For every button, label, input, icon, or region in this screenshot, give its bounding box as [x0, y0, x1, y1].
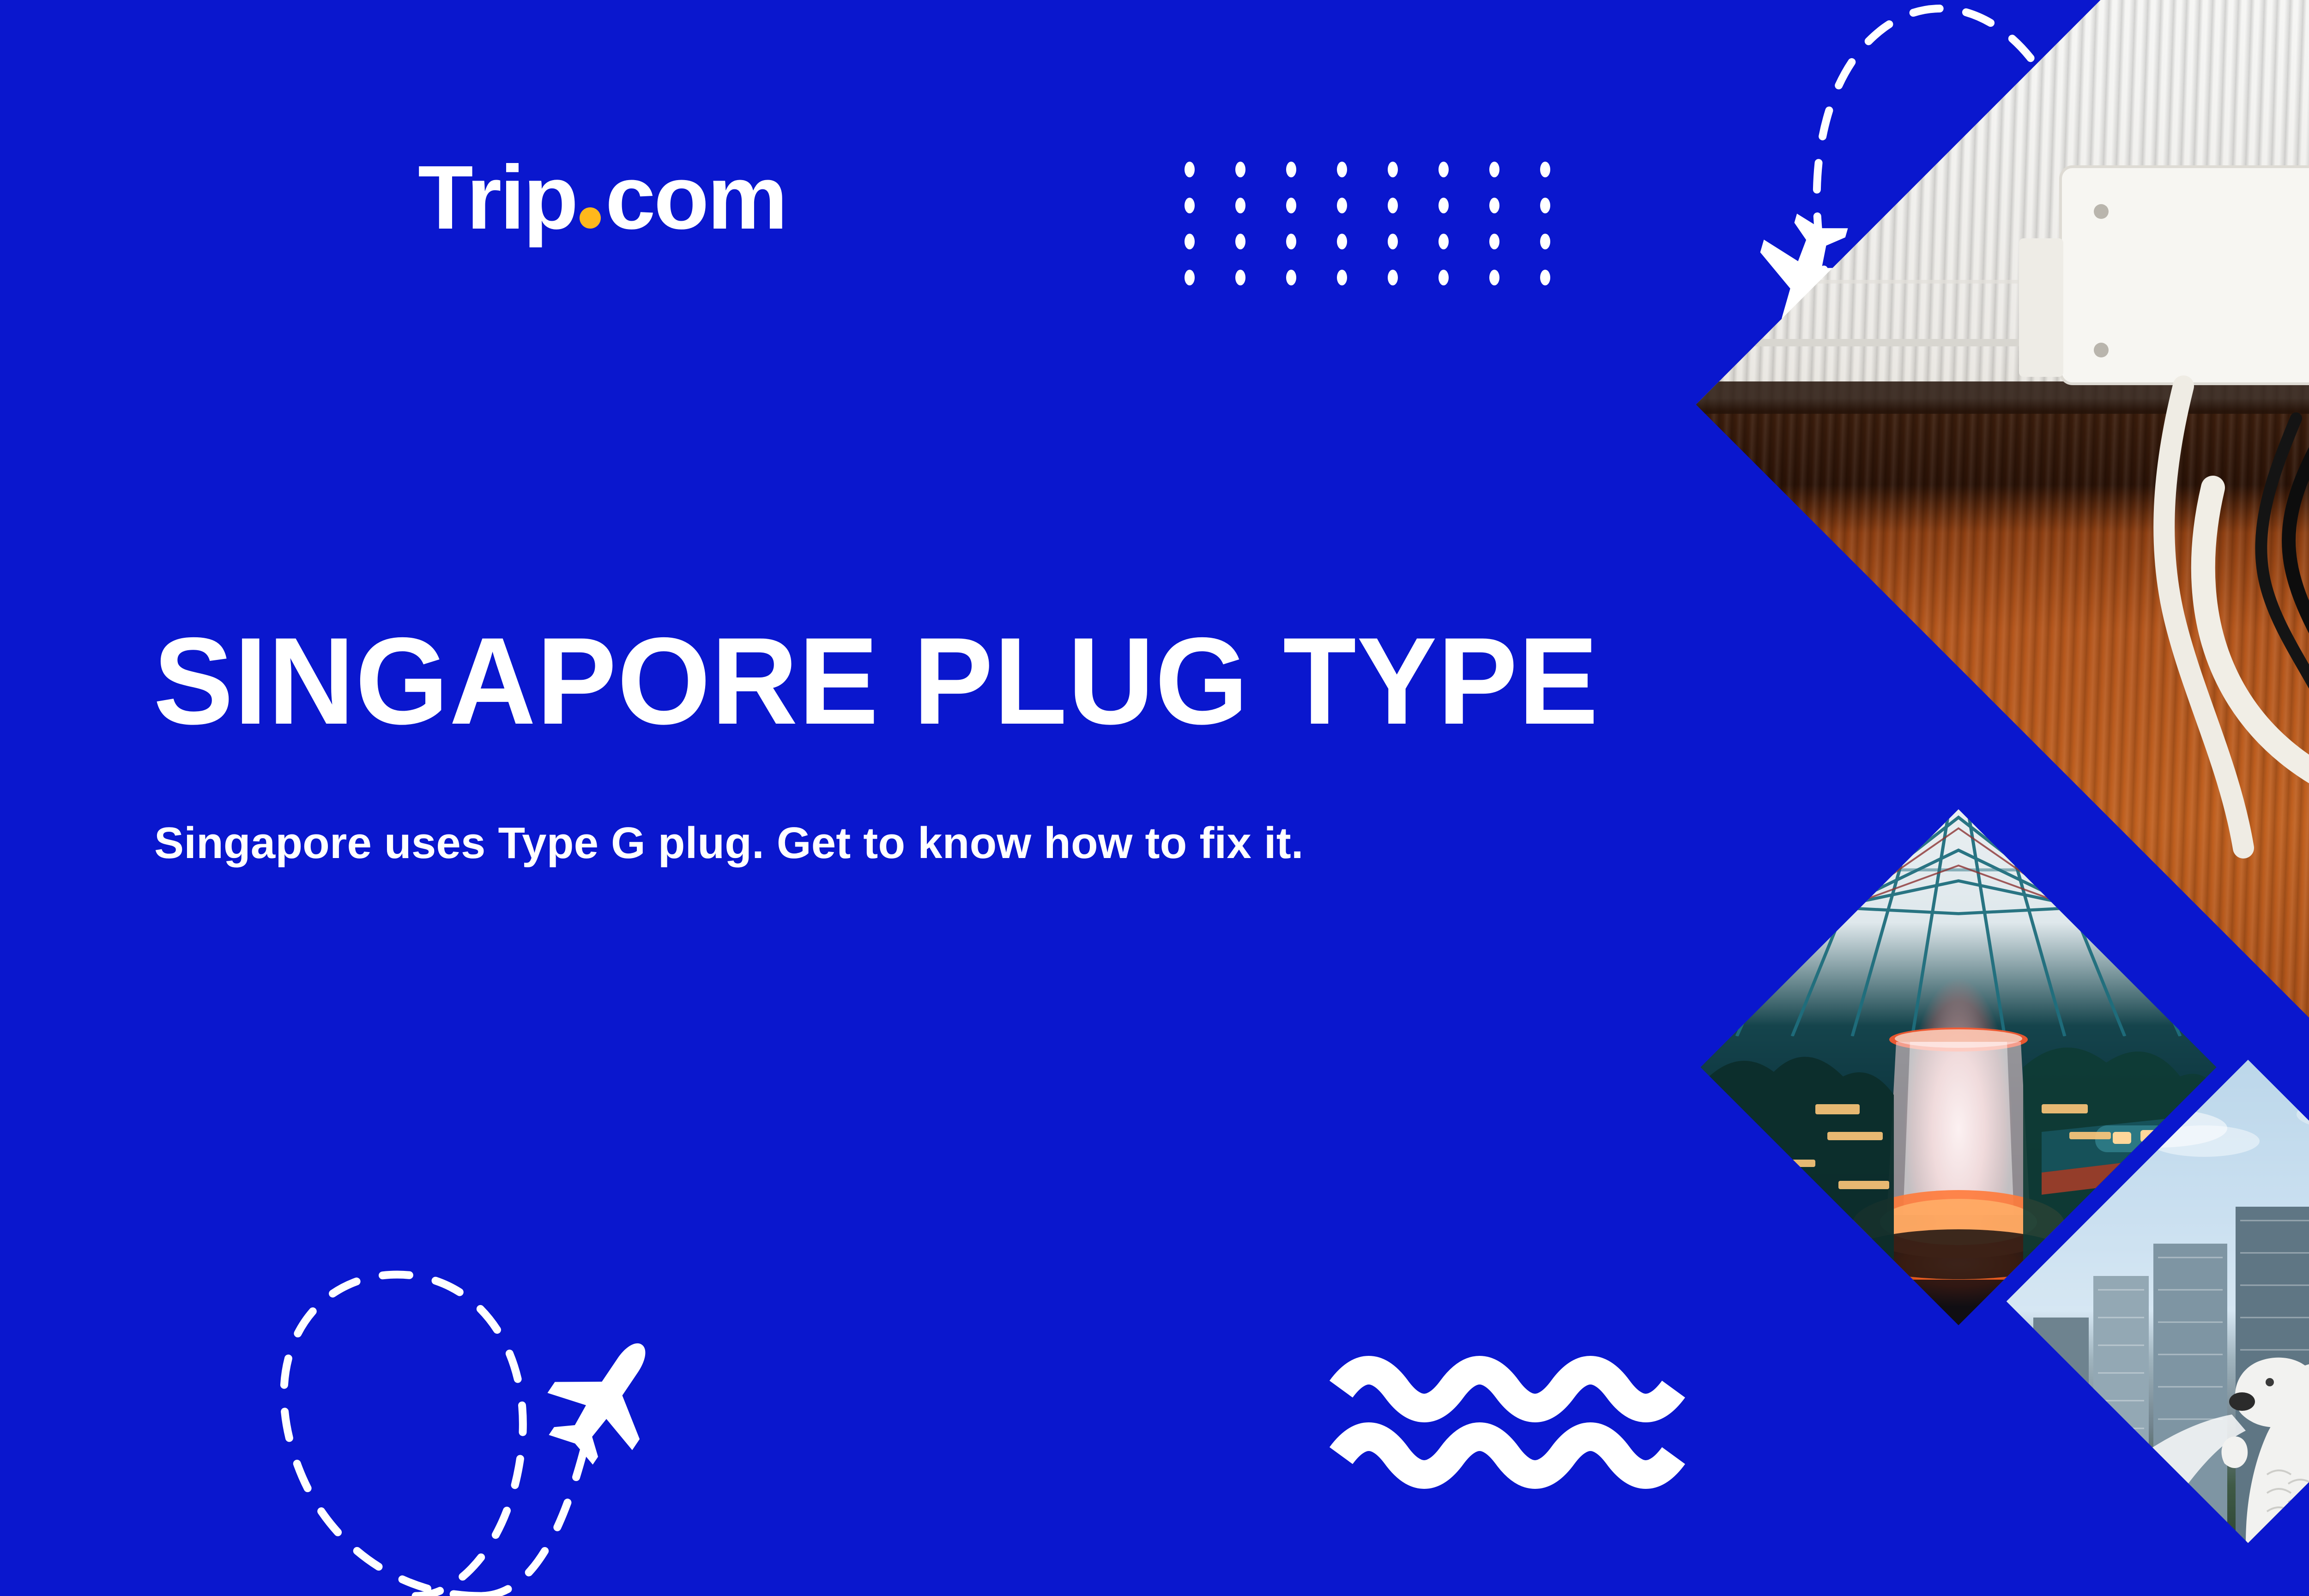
flight-path-dashed-bottom — [284, 1275, 596, 1596]
grid-dot — [1489, 198, 1499, 213]
grid-dot — [1337, 270, 1347, 285]
grid-dot — [1337, 198, 1347, 213]
dot-grid-decoration — [1185, 162, 1591, 306]
grid-dot — [1185, 198, 1195, 213]
grid-dot — [1489, 234, 1499, 249]
grid-dot — [1439, 234, 1449, 249]
grid-dot — [1235, 198, 1245, 213]
page-subtitle: Singapore uses Type G plug. Get to know … — [154, 816, 1304, 870]
grid-dot — [1286, 234, 1296, 249]
grid-dot — [1286, 198, 1296, 213]
grid-dot — [1286, 162, 1296, 177]
grid-dot — [1388, 162, 1398, 177]
logo-orange-dot — [580, 207, 601, 229]
grid-dot — [1540, 162, 1550, 177]
grid-dot — [1235, 162, 1245, 177]
page-title: SINGAPORE PLUG TYPE — [153, 619, 1599, 743]
grid-dot — [1540, 234, 1550, 249]
grid-dot — [1388, 270, 1398, 285]
grid-dot — [1337, 234, 1347, 249]
grid-dot — [1185, 162, 1195, 177]
grid-dot — [1388, 234, 1398, 249]
airplane-icon-bottom — [528, 1316, 684, 1479]
grid-dot — [1235, 234, 1245, 249]
grid-dot — [1388, 198, 1398, 213]
logo-word-com: com — [605, 152, 786, 243]
trip-com-logo[interactable]: Tripcom — [418, 152, 786, 243]
wave-decoration — [1341, 1370, 1674, 1475]
grid-dot — [1489, 162, 1499, 177]
logo-word-trip: Trip — [418, 152, 577, 243]
grid-dot — [1489, 270, 1499, 285]
grid-dot — [1235, 270, 1245, 285]
grid-dot — [1439, 162, 1449, 177]
grid-dot — [1337, 162, 1347, 177]
grid-dot — [1185, 234, 1195, 249]
grid-dot — [1439, 270, 1449, 285]
grid-dot — [1540, 270, 1550, 285]
grid-dot — [1439, 198, 1449, 213]
grid-dot — [1540, 198, 1550, 213]
grid-dot — [1286, 270, 1296, 285]
grid-dot — [1185, 270, 1195, 285]
